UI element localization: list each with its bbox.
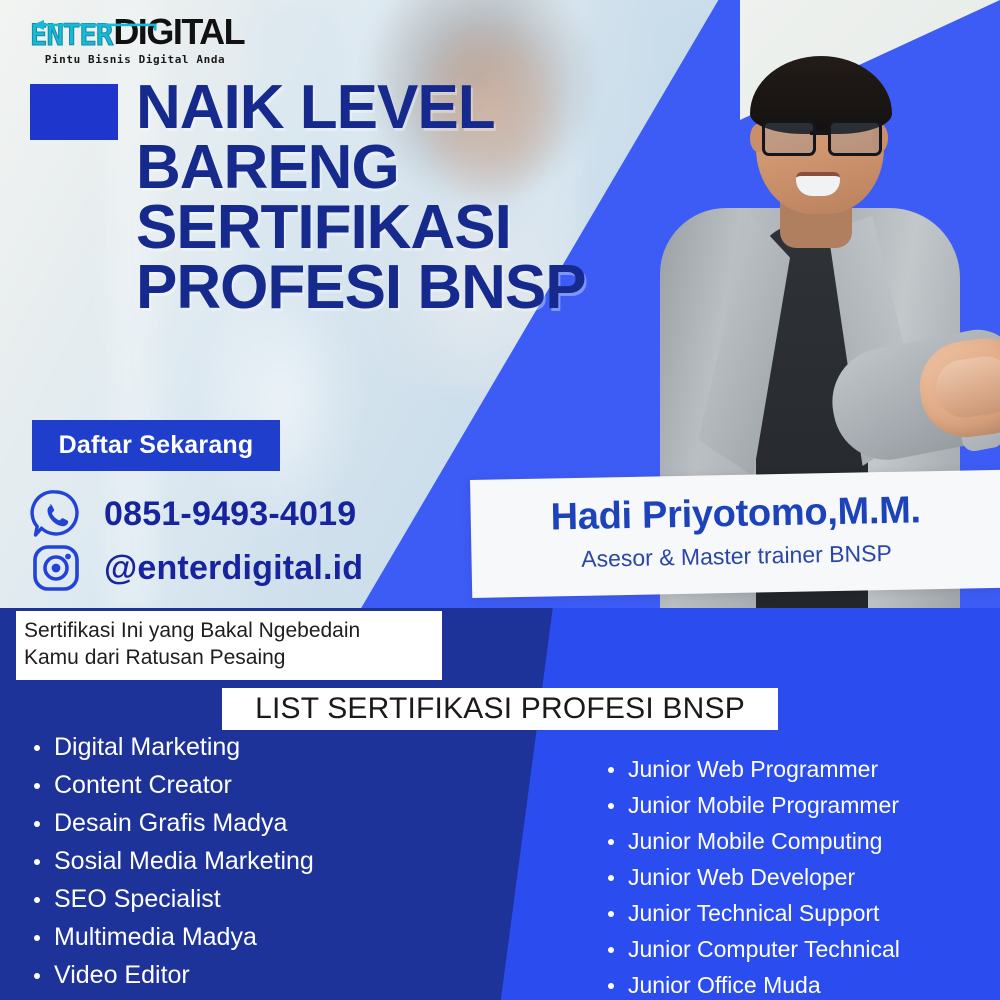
tagline-banner: Sertifikasi Ini yang Bakal Ngebedain Kam… bbox=[16, 611, 442, 680]
certification-list-right: Junior Web Programmer Junior Mobile Prog… bbox=[600, 756, 990, 1000]
list-item: Content Creator bbox=[26, 771, 466, 800]
list-item: Junior Mobile Computing bbox=[600, 828, 990, 855]
speaker-role: Asesor & Master trainer BNSP bbox=[471, 538, 1000, 575]
instagram-icon bbox=[30, 542, 82, 594]
headline-line-2: BARENG bbox=[136, 138, 736, 198]
certification-list-section: Sertifikasi Ini yang Bakal Ngebedain Kam… bbox=[0, 608, 1000, 1000]
logo-wordmark: ENTER DIGITAL bbox=[30, 6, 290, 50]
whatsapp-icon bbox=[30, 488, 82, 540]
list-item: Junior Computer Technical bbox=[600, 936, 990, 963]
speaker-glasses bbox=[762, 120, 880, 150]
register-button-label: Daftar Sekarang bbox=[59, 431, 254, 460]
logo-tagline: Pintu Bisnis Digital Anda bbox=[30, 53, 240, 66]
list-item: Video Editor bbox=[26, 961, 466, 990]
promo-poster: ENTER DIGITAL Pintu Bisnis Digital Anda … bbox=[0, 0, 1000, 1000]
register-button[interactable]: Daftar Sekarang bbox=[32, 420, 280, 471]
logo-enter-group: ENTER bbox=[30, 21, 112, 50]
headline-line-1: NAIK LEVEL bbox=[136, 78, 736, 138]
list-item: Multimedia Madya bbox=[26, 923, 466, 952]
enter-arrow-icon bbox=[30, 19, 158, 31]
list-item: Junior Web Developer bbox=[600, 864, 990, 891]
list-item: Junior Mobile Programmer bbox=[600, 792, 990, 819]
certification-list-left: Digital Marketing Content Creator Desain… bbox=[26, 733, 466, 1000]
contact-instagram[interactable]: @enterdigital.id bbox=[30, 542, 460, 594]
glasses-lens-left bbox=[762, 120, 816, 156]
contact-whatsapp[interactable]: 0851-9493-4019 bbox=[30, 488, 460, 540]
headline: NAIK LEVEL BARENG SERTIFIKASI PROFESI BN… bbox=[136, 78, 736, 319]
list-item: Digital Marketing bbox=[26, 733, 466, 762]
instagram-handle: @enterdigital.id bbox=[104, 549, 363, 588]
list-title: LIST SERTIFIKASI PROFESI BNSP bbox=[222, 688, 778, 730]
speaker-mouth bbox=[796, 172, 840, 196]
glasses-bridge bbox=[810, 131, 828, 135]
speaker-name: Hadi Priyotomo,M.M. bbox=[470, 488, 1000, 541]
brand-logo: ENTER DIGITAL Pintu Bisnis Digital Anda bbox=[30, 6, 290, 72]
tagline-line-2: Kamu dari Ratusan Pesaing bbox=[24, 644, 434, 671]
glasses-lens-right bbox=[828, 120, 882, 156]
phone-number: 0851-9493-4019 bbox=[104, 495, 356, 534]
list-item: Junior Technical Support bbox=[600, 900, 990, 927]
list-item: SEO Specialist bbox=[26, 885, 466, 914]
list-item: Junior Web Programmer bbox=[600, 756, 990, 783]
list-item: Junior Office Muda bbox=[600, 972, 990, 999]
list-item: Desain Grafis Madya bbox=[26, 809, 466, 838]
headline-line-4: PROFESI BNSP bbox=[136, 258, 736, 318]
list-item: Sosial Media Marketing bbox=[26, 847, 466, 876]
headline-accent-square bbox=[30, 84, 118, 140]
tagline-line-1: Sertifikasi Ini yang Bakal Ngebedain bbox=[24, 617, 434, 644]
speaker-name-card: Hadi Priyotomo,M.M. Asesor & Master trai… bbox=[470, 470, 1000, 598]
headline-line-3: SERTIFIKASI bbox=[136, 198, 736, 258]
